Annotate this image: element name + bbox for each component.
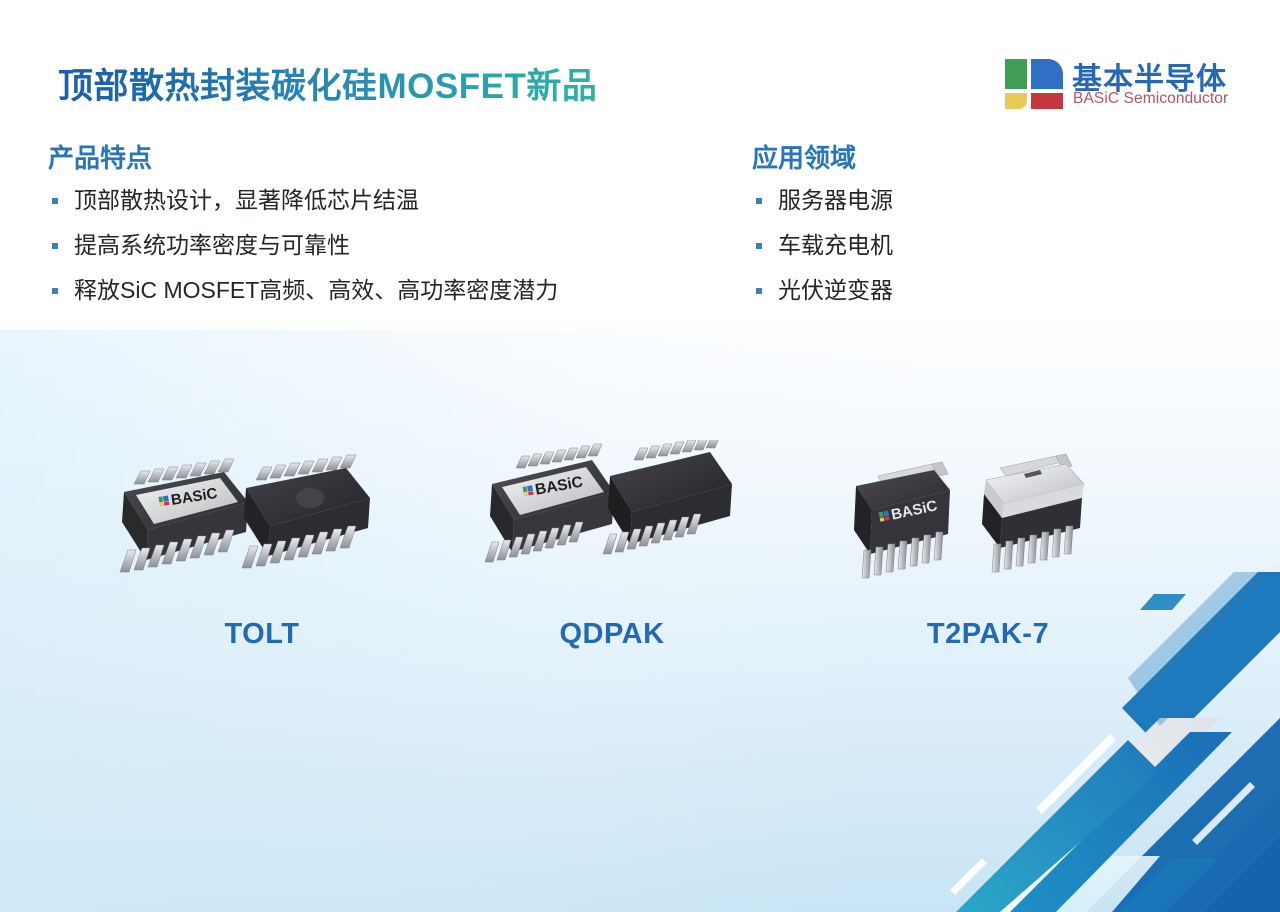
basic-logo-icon bbox=[1004, 58, 1064, 110]
product-qdpak: BASiC bbox=[462, 440, 762, 680]
list-item: 释放SiC MOSFET高频、高效、高功率密度潜力 bbox=[48, 279, 558, 302]
product-gallery: BASiC bbox=[0, 440, 1050, 680]
tolt-package-photo: BASiC bbox=[112, 440, 412, 615]
features-column: 产品特点 顶部散热设计，显著降低芯片结温 提高系统功率密度与可靠性 释放SiC … bbox=[48, 138, 558, 324]
bullet-dot-icon bbox=[756, 243, 762, 249]
product-label: TOLT bbox=[112, 618, 412, 651]
applications-column: 应用领域 服务器电源 车载充电机 光伏逆变器 bbox=[752, 138, 893, 324]
list-item-label: 释放SiC MOSFET高频、高效、高功率密度潜力 bbox=[74, 277, 558, 303]
features-heading: 产品特点 bbox=[48, 138, 558, 175]
list-item-label: 光伏逆变器 bbox=[778, 277, 893, 303]
product-t2pak-7: BASiC bbox=[838, 440, 1138, 680]
product-tolt: BASiC bbox=[112, 440, 412, 680]
t2pak-7-package-photo: BASiC bbox=[838, 440, 1138, 615]
list-item: 光伏逆变器 bbox=[752, 279, 893, 302]
product-label: QDPAK bbox=[462, 618, 762, 651]
bullet-dot-icon bbox=[52, 288, 58, 294]
bullet-dot-icon bbox=[756, 198, 762, 204]
qdpak-package-photo: BASiC bbox=[462, 440, 762, 615]
list-item: 提高系统功率密度与可靠性 bbox=[48, 234, 558, 257]
slide-canvas: 顶部散热封装碳化硅MOSFET新品 基本半导体 BASiC Semiconduc… bbox=[0, 0, 1280, 912]
list-item-label: 提高系统功率密度与可靠性 bbox=[74, 232, 350, 258]
brand-logo: 基本半导体 BASiC Semiconductor bbox=[1004, 56, 1236, 114]
list-item-label: 车载充电机 bbox=[778, 232, 893, 258]
list-item-label: 顶部散热设计，显著降低芯片结温 bbox=[74, 187, 419, 213]
applications-list: 服务器电源 车载充电机 光伏逆变器 bbox=[752, 189, 893, 302]
bullet-dot-icon bbox=[52, 243, 58, 249]
features-list: 顶部散热设计，显著降低芯片结温 提高系统功率密度与可靠性 释放SiC MOSFE… bbox=[48, 189, 558, 302]
bullet-dot-icon bbox=[756, 288, 762, 294]
page-title: 顶部散热封装碳化硅MOSFET新品 bbox=[58, 58, 597, 109]
product-label: T2PAK-7 bbox=[838, 618, 1138, 651]
logo-english-name: BASiC Semiconductor bbox=[1073, 90, 1228, 108]
applications-heading: 应用领域 bbox=[752, 138, 893, 175]
list-item: 车载充电机 bbox=[752, 234, 893, 257]
list-item: 顶部散热设计，显著降低芯片结温 bbox=[48, 189, 558, 212]
bullet-dot-icon bbox=[52, 198, 58, 204]
list-item: 服务器电源 bbox=[752, 189, 893, 212]
list-item-label: 服务器电源 bbox=[778, 187, 893, 213]
slide-header: 顶部散热封装碳化硅MOSFET新品 基本半导体 BASiC Semiconduc… bbox=[0, 0, 1280, 130]
